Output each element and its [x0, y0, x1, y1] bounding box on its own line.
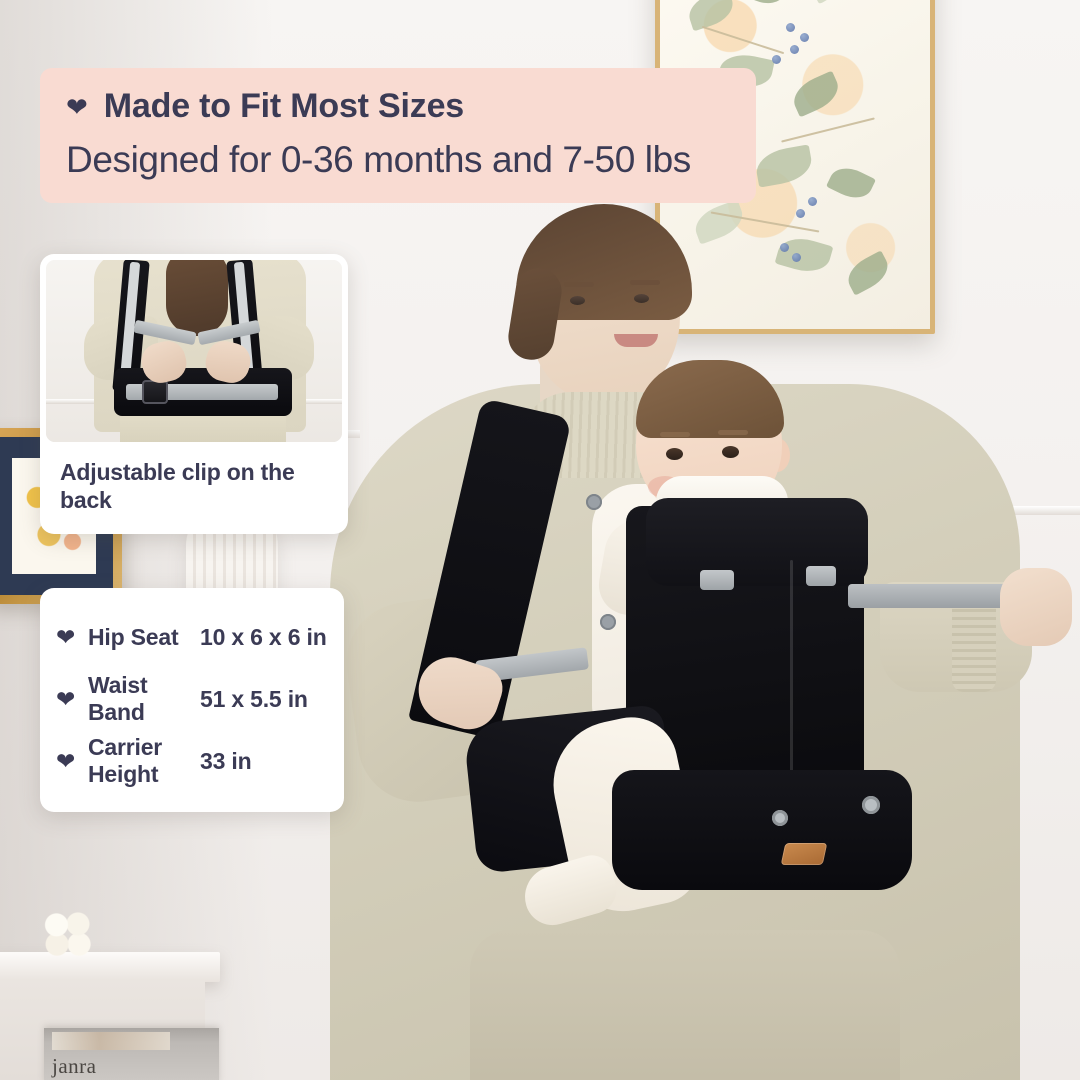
- spec-row-carrier-height: ❤ Carrier Height 33 in: [56, 730, 328, 792]
- carrier-waist-belt: [612, 770, 912, 890]
- inset-person-hair: [166, 260, 228, 336]
- inset-clip-buckle: [142, 380, 168, 404]
- magazine-title: janra: [52, 1054, 96, 1079]
- feature-card-caption: Adjustable clip on the back: [40, 442, 348, 534]
- mother-right-eye: [634, 294, 649, 303]
- carrier-belt-snap-center: [772, 810, 788, 826]
- carrier-belt-snap-right: [862, 796, 880, 814]
- spec-label: Waist Band: [88, 672, 200, 725]
- mother-pants: [470, 930, 900, 1080]
- specifications-card: ❤ Hip Seat 10 x 6 x 6 in ❤ Waist Band 51…: [40, 588, 344, 812]
- baby-right-eye: [722, 446, 739, 458]
- banner-title-row: ❤ Made to Fit Most Sizes: [66, 88, 730, 125]
- magazine-cover-strip: [52, 1032, 170, 1050]
- mother-sleeve-cuff: [952, 596, 996, 692]
- baby-right-brow: [718, 430, 748, 435]
- carrier-snap-lower: [600, 614, 616, 630]
- carrier-brand-label: [781, 843, 828, 865]
- spec-row-waist-band: ❤ Waist Band 51 x 5.5 in: [56, 668, 328, 730]
- mother-right-brow: [630, 280, 660, 285]
- banner-title: Made to Fit Most Sizes: [104, 88, 464, 125]
- spec-value: 51 x 5.5 in: [200, 686, 328, 713]
- heart-icon: ❤: [56, 626, 88, 649]
- spec-value: 10 x 6 x 6 in: [200, 624, 328, 651]
- carrier-seam: [790, 560, 793, 800]
- spec-row-hip-seat: ❤ Hip Seat 10 x 6 x 6 in: [56, 606, 328, 668]
- feature-card-image: [46, 260, 342, 442]
- mother-left-brow: [564, 282, 594, 287]
- mother-right-hand: [1000, 568, 1072, 646]
- spec-label: Carrier Height: [88, 734, 200, 787]
- baby-left-eye: [666, 448, 683, 460]
- banner-subtitle: Designed for 0-36 months and 7-50 lbs: [66, 139, 730, 180]
- carrier-snap-upper: [586, 494, 602, 510]
- heart-icon: ❤: [56, 688, 88, 711]
- headline-banner: ❤ Made to Fit Most Sizes Designed for 0-…: [40, 68, 756, 203]
- carrier-strap-tab-left: [700, 570, 734, 590]
- mantel-shelf: [0, 952, 220, 982]
- spec-value: 33 in: [200, 748, 328, 775]
- heart-icon: ❤: [66, 94, 88, 120]
- heart-icon: ❤: [56, 750, 88, 773]
- baby-left-brow: [660, 432, 690, 437]
- spec-label: Hip Seat: [88, 624, 200, 651]
- bubble-candle: [42, 912, 100, 958]
- mother-left-eye: [570, 296, 585, 305]
- mother-mouth: [614, 334, 658, 347]
- carrier-strap-tab-right: [806, 566, 836, 586]
- feature-card: Adjustable clip on the back: [40, 254, 348, 534]
- product-infographic: janra: [0, 0, 1080, 1080]
